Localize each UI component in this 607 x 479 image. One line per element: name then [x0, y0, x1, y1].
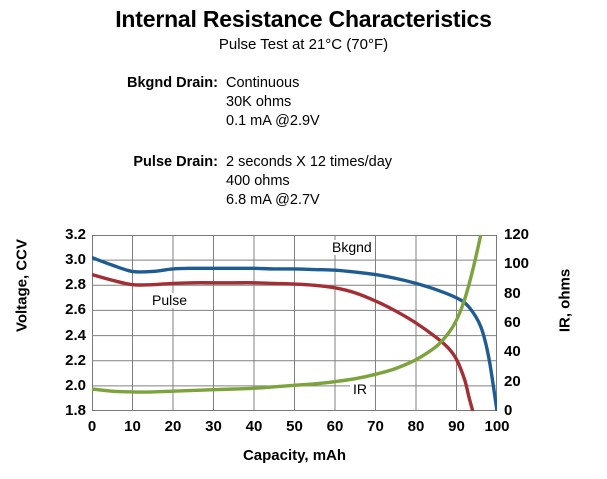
y-axis-left-title: Voltage, CCV [14, 221, 31, 351]
x-axis-title: Capacity, mAh [92, 447, 497, 464]
bkgnd-drain-parameter-block: Bkgnd Drain: Continuous 30K ohms 0.1 mA … [96, 74, 320, 131]
y-right-tick-40: 40 [504, 343, 521, 360]
y-axis-right-title: IR, ohms [557, 246, 574, 356]
y-right-tick-60: 60 [504, 314, 521, 331]
plot-area: Bkgnd Pulse IR [92, 235, 497, 411]
pulse-drain-parameter-block: Pulse Drain: 2 seconds X 12 times/day 40… [96, 153, 392, 210]
x-tick-100: 100 [472, 418, 522, 435]
curve-bkgnd [92, 258, 497, 411]
y-right-tick-0: 0 [504, 402, 512, 419]
pulse-drain-line-1: 2 seconds X 12 times/day [226, 153, 392, 172]
y-left-tick-3.0: 3.0 [65, 251, 86, 268]
y-right-tick-20: 20 [504, 373, 521, 390]
bkgnd-drain-line-3: 0.1 mA @2.9V [226, 112, 320, 131]
data-curves [92, 235, 497, 411]
series-label-pulse: Pulse [149, 293, 190, 308]
y-left-tick-2.4: 2.4 [65, 327, 86, 344]
chart-subtitle: Pulse Test at 21°C (70°F) [0, 36, 607, 53]
y-left-tick-2.0: 2.0 [65, 377, 86, 394]
pulse-drain-line-2: 400 ohms [226, 172, 392, 191]
x-axis-ticks: 0102030405060708090100 [92, 418, 497, 440]
bkgnd-drain-line-2: 30K ohms [226, 93, 320, 112]
series-label-ir: IR [350, 382, 370, 397]
y-right-tick-120: 120 [504, 226, 529, 243]
bkgnd-drain-label: Bkgnd Drain: [96, 74, 226, 93]
y-axis-left-ticks: 3.23.02.82.62.42.22.01.8 [38, 235, 86, 411]
pulse-drain-values: 2 seconds X 12 times/day 400 ohms 6.8 mA… [226, 153, 392, 210]
curve-ir [92, 235, 481, 392]
y-axis-right-ticks: 120100806040200 [504, 235, 548, 411]
y-left-tick-3.2: 3.2 [65, 226, 86, 243]
y-left-tick-2.8: 2.8 [65, 276, 86, 293]
y-left-tick-1.8: 1.8 [65, 402, 86, 419]
y-left-tick-2.6: 2.6 [65, 301, 86, 318]
bkgnd-drain-line-1: Continuous [226, 74, 320, 93]
series-label-bkgnd: Bkgnd [329, 240, 375, 255]
y-right-tick-80: 80 [504, 285, 521, 302]
chart-title: Internal Resistance Characteristics [0, 6, 607, 33]
y-right-tick-100: 100 [504, 255, 529, 272]
y-left-tick-2.2: 2.2 [65, 352, 86, 369]
bkgnd-drain-values: Continuous 30K ohms 0.1 mA @2.9V [226, 74, 320, 131]
pulse-drain-line-3: 6.8 mA @2.7V [226, 191, 392, 210]
pulse-drain-label: Pulse Drain: [96, 153, 226, 172]
